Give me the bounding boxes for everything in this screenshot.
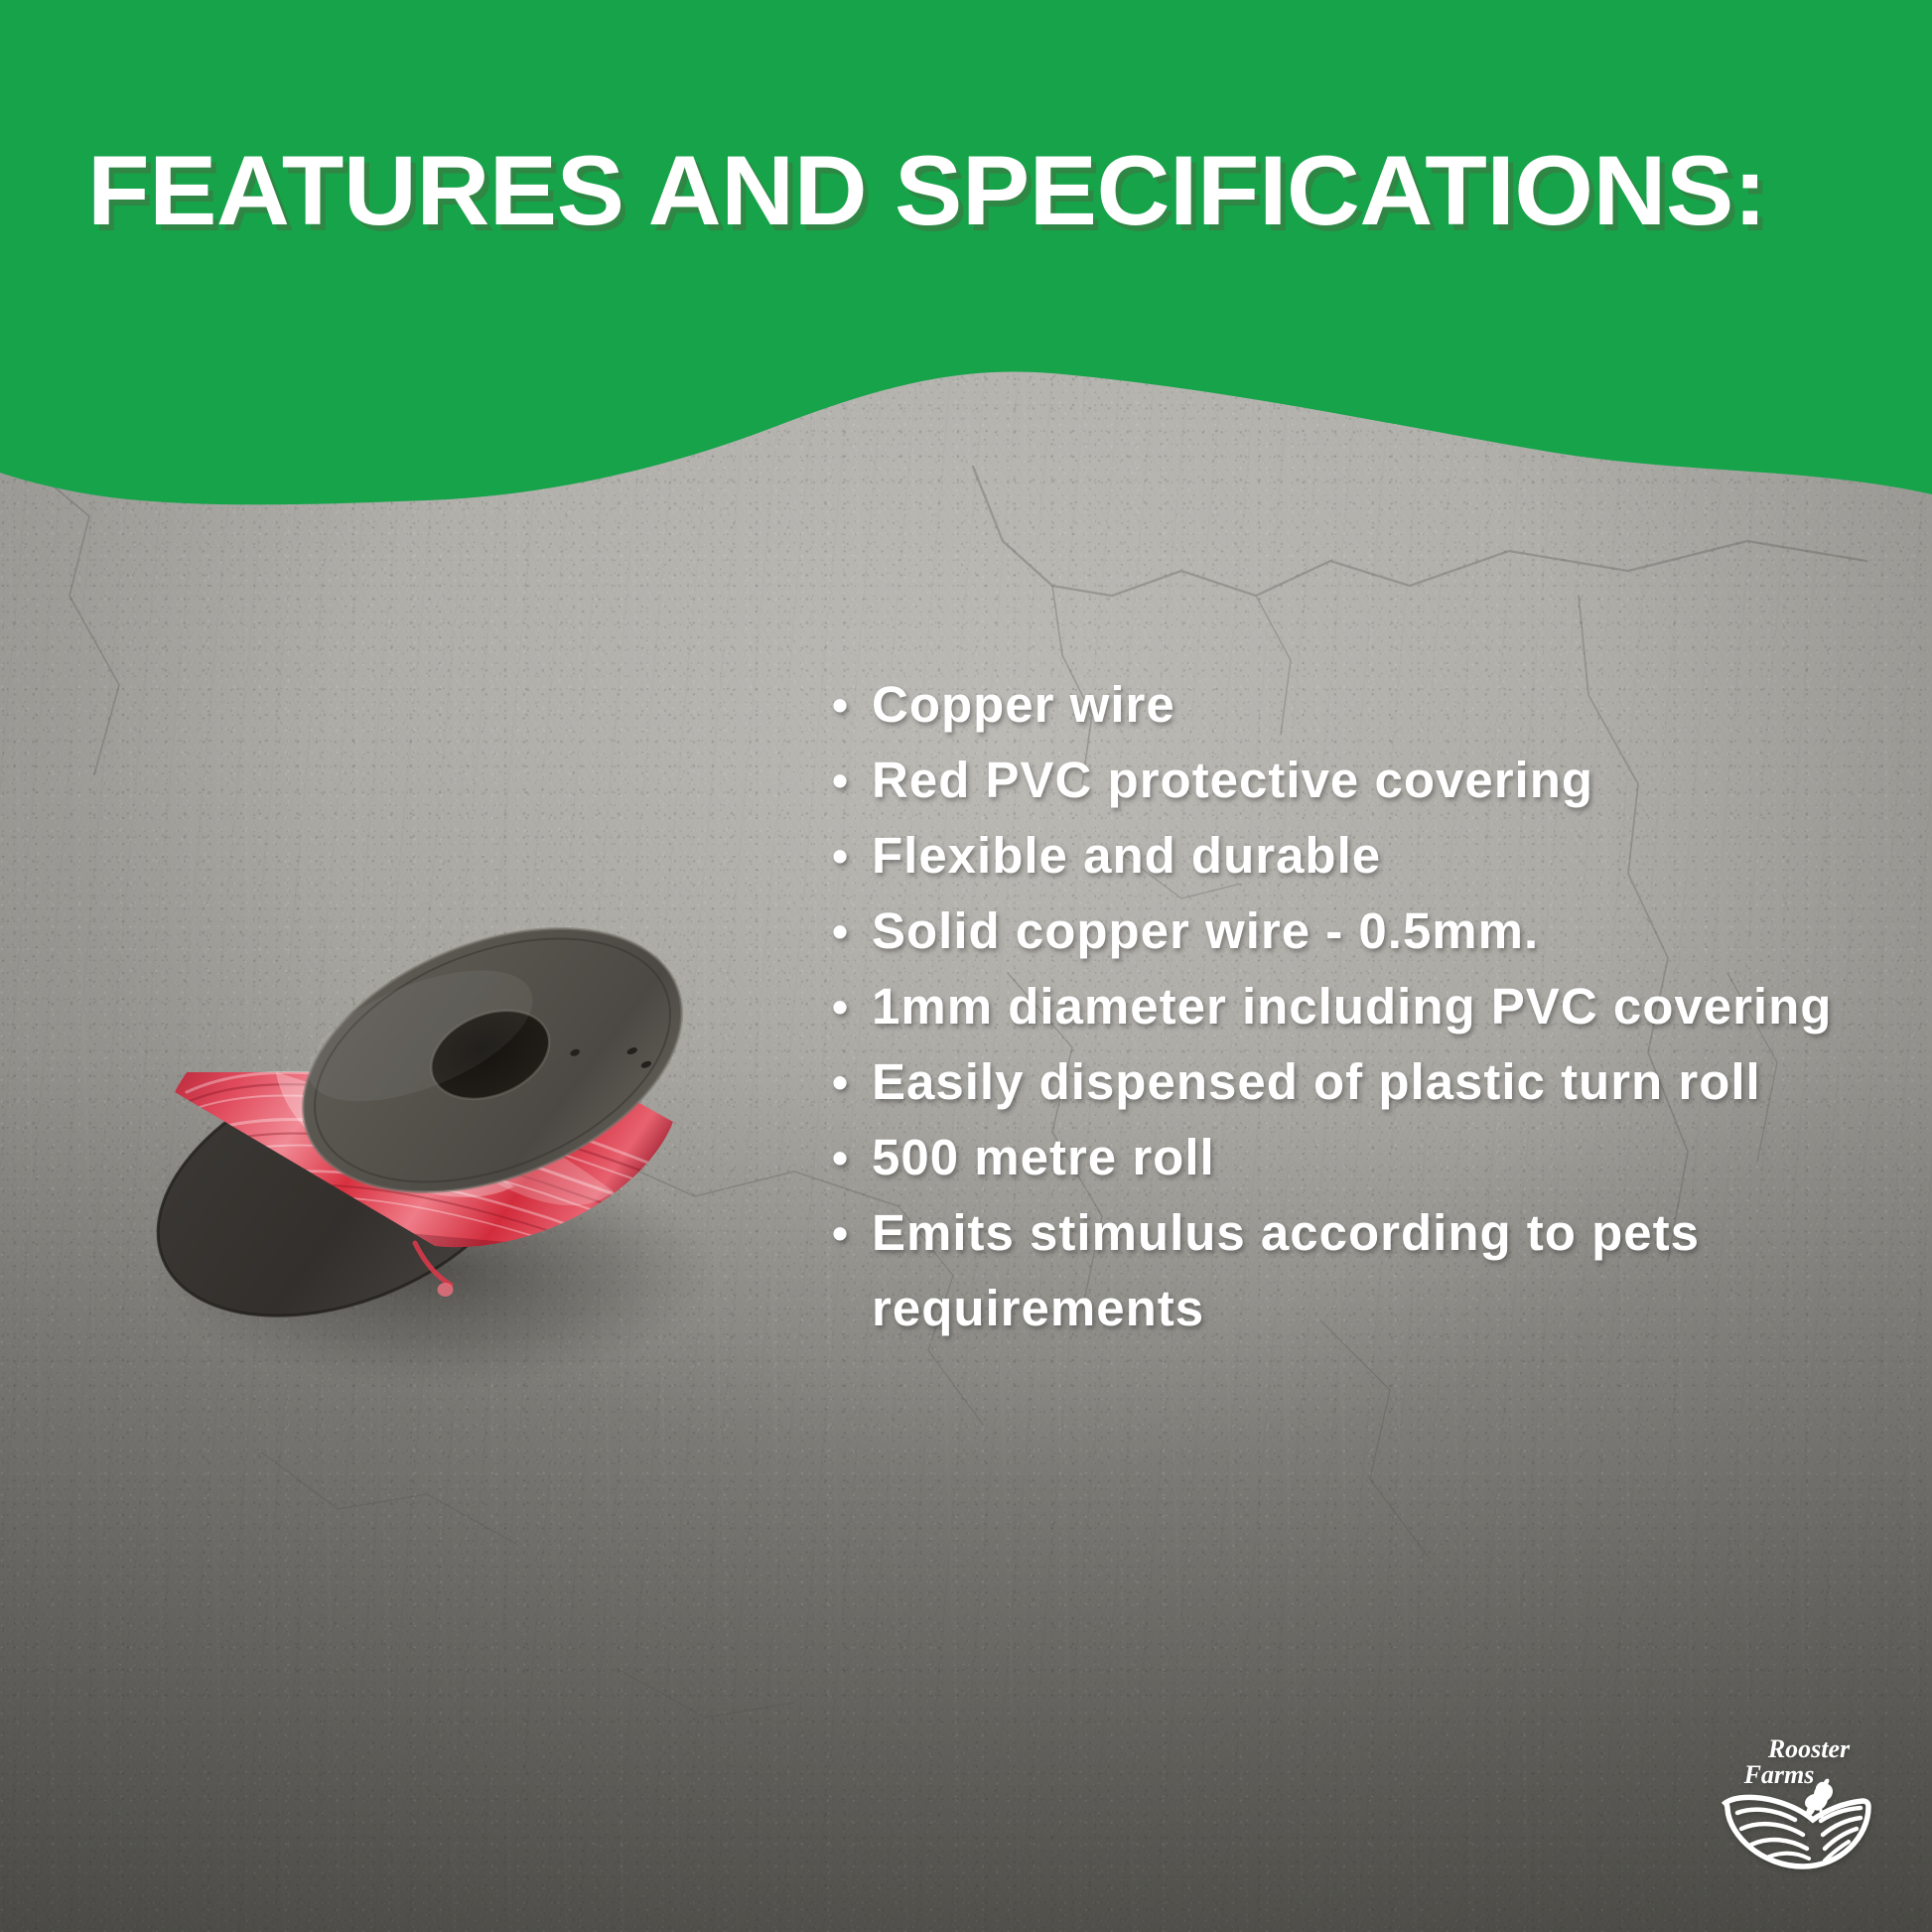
- bullet-icon: •: [832, 818, 872, 894]
- rooster-farms-logo-icon: Rooster Farms: [1714, 1725, 1877, 1884]
- wire-spool-illustration: [117, 794, 762, 1390]
- page-title: FEATURES AND SPECIFICATIONS:: [87, 139, 1835, 242]
- bullet-icon: •: [832, 894, 872, 969]
- product-image-wire-spool: [117, 794, 762, 1390]
- spec-item-label: Copper wire: [872, 667, 1884, 743]
- spec-item-label: 1mm diameter including PVC covering: [872, 969, 1884, 1044]
- bullet-icon: •: [832, 1120, 872, 1195]
- field-furrows-icon: [1725, 1797, 1868, 1866]
- logo-text-line2: Farms: [1743, 1760, 1815, 1789]
- green-header-band: [0, 0, 1932, 556]
- bullet-icon: •: [832, 1044, 872, 1120]
- spec-list-item: • Copper wire: [832, 667, 1884, 743]
- spec-item-label: Easily dispensed of plastic turn roll: [872, 1044, 1884, 1120]
- logo-text-line1: Rooster: [1767, 1734, 1851, 1763]
- bullet-icon: •: [832, 1195, 872, 1271]
- specifications-list: • Copper wire • Red PVC protective cover…: [832, 667, 1884, 1346]
- spec-item-label: Red PVC protective covering: [872, 743, 1884, 818]
- bullet-icon: •: [832, 969, 872, 1044]
- brand-logo-rooster-farms: Rooster Farms: [1714, 1725, 1877, 1884]
- spec-list-item: • Solid copper wire - 0.5mm.: [832, 894, 1884, 969]
- spec-list-item: • Easily dispensed of plastic turn roll: [832, 1044, 1884, 1120]
- spec-list-item: • Emits stimulus according to pets requi…: [832, 1195, 1884, 1346]
- spec-item-label: Flexible and durable: [872, 818, 1884, 894]
- spec-list-item: • Red PVC protective covering: [832, 743, 1884, 818]
- spec-list-item: • Flexible and durable: [832, 818, 1884, 894]
- spec-list-item: • 1mm diameter including PVC covering: [832, 969, 1884, 1044]
- spec-item-label: Emits stimulus according to pets require…: [872, 1195, 1884, 1346]
- bullet-icon: •: [832, 743, 872, 818]
- header-wave-shape: [0, 0, 1932, 556]
- poster-canvas: FEATURES AND SPECIFICATIONS:: [0, 0, 1932, 1932]
- spec-item-label: Solid copper wire - 0.5mm.: [872, 894, 1884, 969]
- bullet-icon: •: [832, 667, 872, 743]
- spec-list-item: • 500 metre roll: [832, 1120, 1884, 1195]
- spec-item-label: 500 metre roll: [872, 1120, 1884, 1195]
